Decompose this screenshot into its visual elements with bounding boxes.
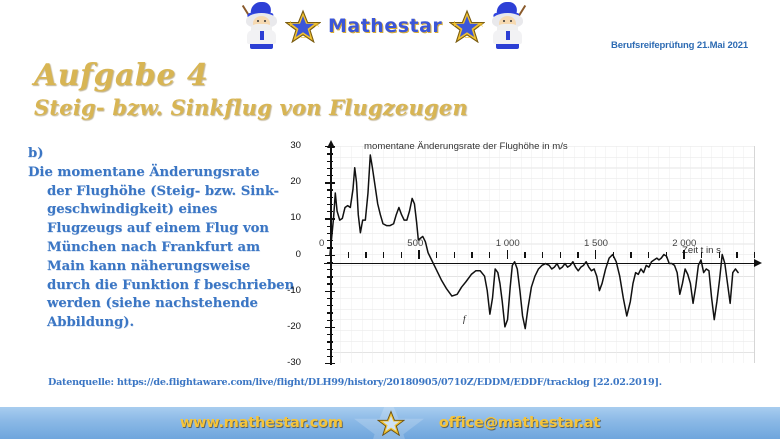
svg-text:+: + [451,19,458,28]
y-tick-minor [327,262,333,263]
x-tick [330,250,331,259]
brand-logo-group: + × − Mathestar + × − [243,2,527,50]
y-tick-label: 20 [290,176,301,187]
x-tick [507,250,508,259]
x-tick-minor [719,252,720,258]
wizard-icon [489,2,527,50]
y-tick-minor [327,233,333,234]
x-tick-minor [701,252,702,258]
y-tick-minor [327,320,333,321]
svg-text:+: + [287,19,294,28]
y-tick-minor [327,341,333,342]
y-tick-minor [327,276,333,277]
y-tick-minor [327,247,333,248]
x-tick-minor [630,252,631,258]
question-line: Die momentane Änderungsrate [28,164,298,183]
x-tick-minor [613,252,614,258]
x-tick-minor [542,252,543,258]
x-tick [683,250,684,259]
y-tick-minor [327,334,333,335]
question-line: Main kann näherungsweise [28,258,298,277]
wizard-icon [243,2,281,50]
x-tick-label: 2 000 [672,238,696,249]
y-tick-minor [327,189,333,190]
x-tick-minor [436,252,437,258]
svg-text:×: × [478,21,484,29]
y-tick-minor [327,168,333,169]
x-tick-label: 500 [407,238,423,249]
question-line: der Flughöhe (Steig- bzw. Sink- [28,183,298,202]
question-line: geschwindigkeit) eines [28,201,298,220]
page-title: Aufgabe 4 [34,58,208,93]
y-tick [325,182,335,183]
x-tick-minor [401,252,402,258]
y-tick-minor [327,175,333,176]
y-tick-minor [327,211,333,212]
chart: f momentane Änderungsrate der Flughöhe i… [304,138,759,370]
y-tick-minor [327,240,333,241]
svg-text:×: × [314,21,320,29]
y-tick-minor [327,283,333,284]
y-tick-minor [327,269,333,270]
star-icon: + × − [449,9,485,43]
x-tick-minor [489,252,490,258]
question-label: b) [28,146,43,161]
footer-email[interactable]: office@mathestar.at [439,415,600,431]
x-tick-minor [348,252,349,258]
star-icon: + × − [285,9,321,43]
footer-bar: www.mathestar.com office@mathestar.at [0,407,780,439]
y-tick-minor [327,312,333,313]
x-tick-minor [754,252,755,258]
series-label-f: f [463,314,466,324]
footer-website[interactable]: www.mathestar.com [180,415,343,431]
x-tick-minor [365,252,366,258]
question-line: München nach Frankfurt am [28,239,298,258]
y-tick-minor [327,356,333,357]
x-tick [418,250,419,259]
y-tick [325,291,335,292]
x-tick-minor [648,252,649,258]
y-axis-title: momentane Änderungsrate der Flughöhe in … [364,141,568,152]
x-tick-minor [736,252,737,258]
x-tick-minor [577,252,578,258]
y-tick-minor [327,226,333,227]
y-tick-minor [327,298,333,299]
y-tick-minor [327,204,333,205]
x-tick-minor [560,252,561,258]
x-tick-minor [524,252,525,258]
y-tick [325,327,335,328]
y-tick [325,363,335,364]
y-tick-label: 0 [296,249,301,260]
y-tick-minor [327,349,333,350]
y-tick-label: -10 [287,285,301,296]
y-tick-minor [327,153,333,154]
y-tick [325,218,335,219]
star-icon [377,410,405,436]
svg-text:−: − [300,33,307,42]
x-tick-minor [383,252,384,258]
x-tick-label: 1 500 [584,238,608,249]
x-tick-label: 0 [319,238,324,249]
y-tick-minor [327,161,333,162]
svg-text:−: − [464,33,471,42]
y-tick [325,146,335,147]
page-subtitle: Steig- bzw. Sinkflug von Flugzeugen [34,95,468,120]
y-tick-label: -30 [287,357,301,368]
question-text: Die momentane Änderungsrate der Flughöhe… [28,164,298,333]
x-tick [595,250,596,259]
x-tick-minor [666,252,667,258]
x-tick-minor [471,252,472,258]
question-line: Flugzeugs auf einem Flug von [28,220,298,239]
question-line: Abbildung). [28,314,298,333]
x-axis-arrow [754,259,762,267]
question-line: durch die Funktion f beschrieben [28,277,298,296]
x-tick-label: 1 000 [496,238,520,249]
question-line: werden (siehe nachstehende [28,295,298,314]
question-block: b) Die momentane Änderungsrate der Flugh… [28,145,298,333]
brand-name: Mathestar [325,15,445,37]
source-line: Datenquelle: https://de.flightaware.com/… [48,377,662,388]
y-tick-label: -20 [287,321,301,332]
exam-note: Berufsreifeprüfung 21.Mai 2021 [611,40,748,51]
y-tick-minor [327,197,333,198]
y-tick-minor [327,305,333,306]
y-tick-label: 30 [290,140,301,151]
y-tick-label: 10 [290,212,301,223]
x-tick-minor [454,252,455,258]
